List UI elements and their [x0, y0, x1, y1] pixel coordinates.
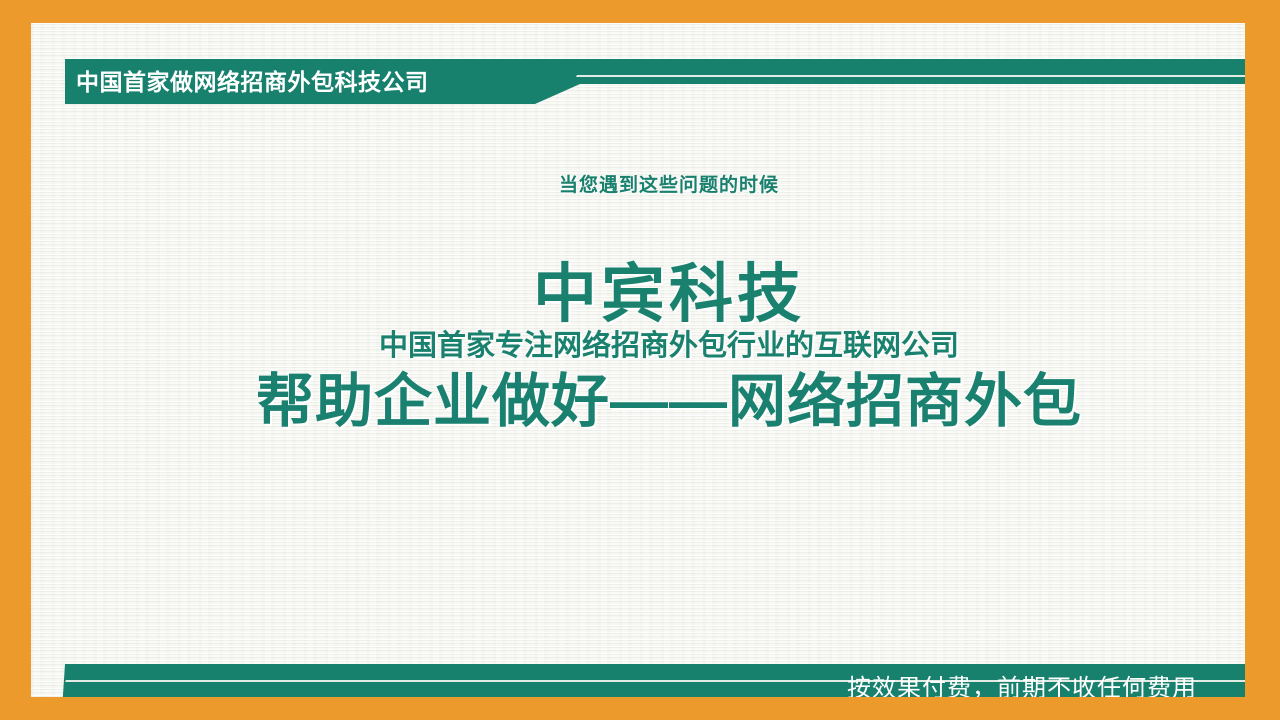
- main-content: 当您遇到这些问题的时候 中宾科技 中国首家专注网络招商外包行业的互联网公司 帮助…: [62, 173, 1245, 437]
- brand-name: 中宾科技: [62, 257, 1245, 331]
- tagline-text: 中国首家专注网络招商外包行业的互联网公司: [62, 327, 1245, 365]
- eyebrow-text: 当您遇到这些问题的时候: [62, 173, 1245, 199]
- slide-canvas: 中国首家做网络招商外包科技公司 当您遇到这些问题的时候 中宾科技 中国首家专注网…: [31, 23, 1245, 697]
- headline-text: 帮助企业做好——网络招商外包: [62, 367, 1245, 437]
- slide: 中国首家做网络招商外包科技公司 当您遇到这些问题的时候 中宾科技 中国首家专注网…: [0, 0, 1280, 720]
- footer-text: 按效果付费，前期不收任何费用: [847, 673, 1197, 697]
- header-title: 中国首家做网络招商外包科技公司: [76, 65, 429, 99]
